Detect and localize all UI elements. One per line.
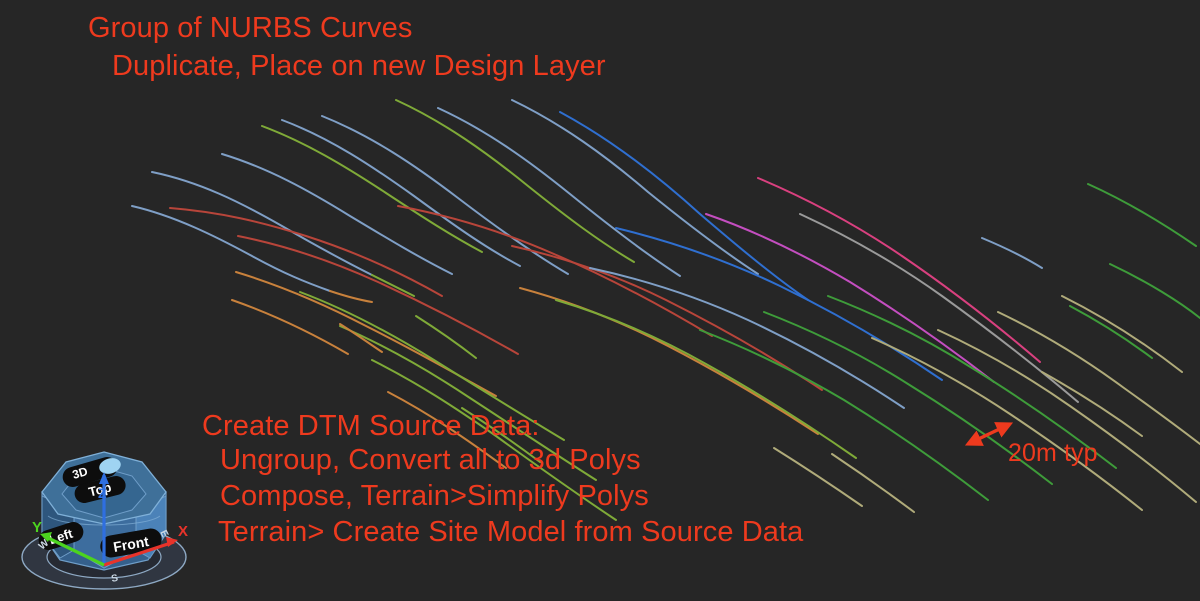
contour-curve[interactable]	[556, 300, 856, 458]
viewport-3d[interactable]: Group of NURBS Curves Duplicate, Place o…	[0, 0, 1200, 601]
contour-curve[interactable]	[938, 330, 1196, 502]
contour-curve[interactable]	[560, 112, 808, 300]
contour-curve[interactable]	[774, 448, 862, 506]
axis-y-label: Y	[32, 519, 42, 536]
contour-curve[interactable]	[1042, 372, 1142, 436]
view-cube-widget[interactable]: 3D Top Left Front Z X Y	[12, 430, 197, 598]
contour-curve[interactable]	[330, 291, 372, 302]
contour-curve[interactable]	[764, 312, 1052, 484]
contour-curve[interactable]	[828, 296, 1116, 468]
contour-curve[interactable]	[282, 120, 520, 266]
contour-curve[interactable]	[982, 238, 1042, 268]
contour-curve[interactable]	[340, 324, 382, 352]
contour-curve[interactable]	[758, 178, 1040, 362]
contour-curve[interactable]	[132, 206, 330, 291]
contour-curve[interactable]	[1062, 296, 1182, 372]
contour-curve[interactable]	[800, 214, 1078, 402]
contour-curve[interactable]	[236, 272, 496, 396]
axis-z-label: Z	[98, 485, 107, 501]
contour-curve[interactable]	[872, 338, 1142, 510]
contour-curve[interactable]	[512, 100, 758, 274]
contour-curve[interactable]	[700, 330, 988, 500]
contour-curve[interactable]	[372, 360, 616, 520]
contour-curve[interactable]	[438, 108, 680, 276]
contour-curve[interactable]	[1070, 306, 1152, 358]
axis-x-label: X	[178, 523, 188, 540]
contour-curve[interactable]	[1110, 264, 1200, 318]
contour-curve[interactable]	[238, 236, 518, 354]
contour-curve[interactable]	[1088, 184, 1196, 246]
contour-curve[interactable]	[416, 316, 476, 358]
contour-curve[interactable]	[832, 454, 914, 512]
